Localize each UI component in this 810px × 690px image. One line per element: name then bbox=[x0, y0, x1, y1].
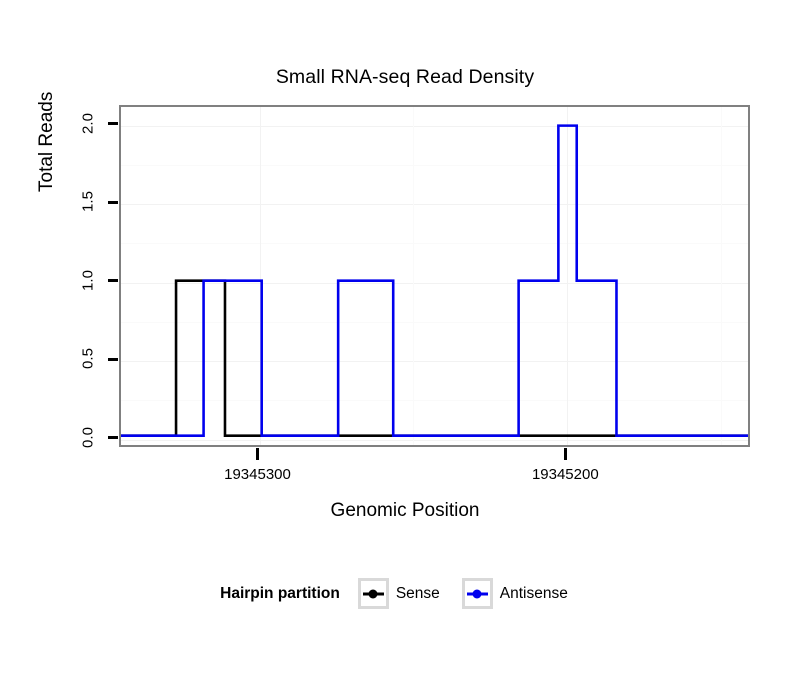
y-tick-mark bbox=[108, 358, 118, 361]
y-tick-mark bbox=[108, 122, 118, 125]
y-tick-mark bbox=[108, 201, 118, 204]
series-line-sense bbox=[121, 281, 748, 436]
y-tick-mark bbox=[108, 436, 118, 439]
legend-entry-sense[interactable]: Sense bbox=[358, 578, 452, 609]
plot-panel bbox=[119, 105, 750, 447]
legend-key-point-icon bbox=[369, 589, 378, 598]
x-tick-label: 19345300 bbox=[224, 466, 291, 483]
series-line-antisense bbox=[121, 126, 748, 436]
y-tick-label: 1.5 bbox=[80, 185, 97, 219]
legend-key-point-icon bbox=[473, 589, 482, 598]
x-tick-label: 19345200 bbox=[532, 466, 599, 483]
y-tick-label: 2.0 bbox=[80, 106, 97, 140]
legend-label: Sense bbox=[396, 585, 440, 603]
legend-title: Hairpin partition bbox=[220, 585, 340, 603]
x-axis-title: Genomic Position bbox=[0, 500, 810, 522]
legend-entry-list: SenseAntisense bbox=[358, 578, 590, 609]
y-tick-label: 0.0 bbox=[80, 420, 97, 454]
y-tick-label: 0.5 bbox=[80, 342, 97, 376]
legend-key-swatch bbox=[358, 578, 389, 609]
y-tick-label: 1.0 bbox=[80, 263, 97, 297]
legend: Hairpin partition SenseAntisense bbox=[0, 578, 810, 609]
data-series-layer bbox=[121, 107, 748, 445]
x-tick-mark bbox=[564, 448, 567, 460]
y-tick-mark bbox=[108, 279, 118, 282]
legend-entry-antisense[interactable]: Antisense bbox=[462, 578, 580, 609]
chart-canvas: Small RNA-seq Read Density Total Reads G… bbox=[0, 0, 810, 690]
x-tick-mark bbox=[256, 448, 259, 460]
y-axis-title: Total Reads bbox=[36, 170, 58, 192]
chart-title: Small RNA-seq Read Density bbox=[0, 66, 810, 89]
legend-label: Antisense bbox=[500, 585, 568, 603]
legend-key-swatch bbox=[462, 578, 493, 609]
